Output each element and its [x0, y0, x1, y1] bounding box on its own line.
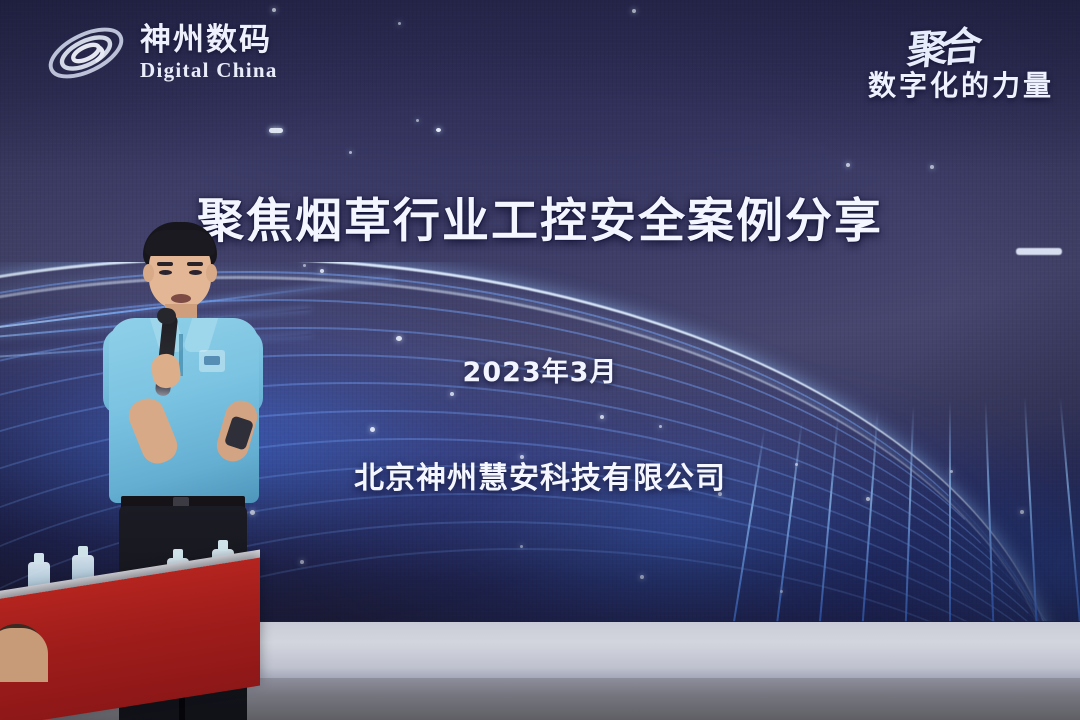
digital-china-swirl-icon	[42, 20, 130, 86]
speaker-eye-right	[189, 270, 202, 275]
speaker-eye-left	[159, 270, 172, 275]
speaker-brow-left	[157, 262, 173, 266]
speaker-ear-left	[143, 264, 154, 282]
screenshot-root: 神州数码 Digital China 聚合 数字化的力量 聚焦烟草行业工控安全案…	[0, 0, 1080, 720]
seated-attendee	[0, 628, 48, 682]
speaker-ear-right	[206, 264, 217, 282]
digital-china-logo: 神州数码 Digital China	[42, 20, 278, 86]
speaker-brow-right	[187, 262, 203, 266]
logo-chinese-name: 神州数码	[140, 25, 278, 56]
speaker-shirt-logo	[199, 350, 225, 372]
logo-english-name: Digital China	[140, 60, 278, 81]
speaker-hair-front	[145, 230, 215, 256]
digital-china-wordmark: 神州数码 Digital China	[140, 25, 278, 81]
speaker-mouth	[171, 294, 191, 303]
event-logo: 聚合 数字化的力量	[868, 16, 1054, 104]
event-calligraphy: 聚合	[905, 14, 979, 77]
